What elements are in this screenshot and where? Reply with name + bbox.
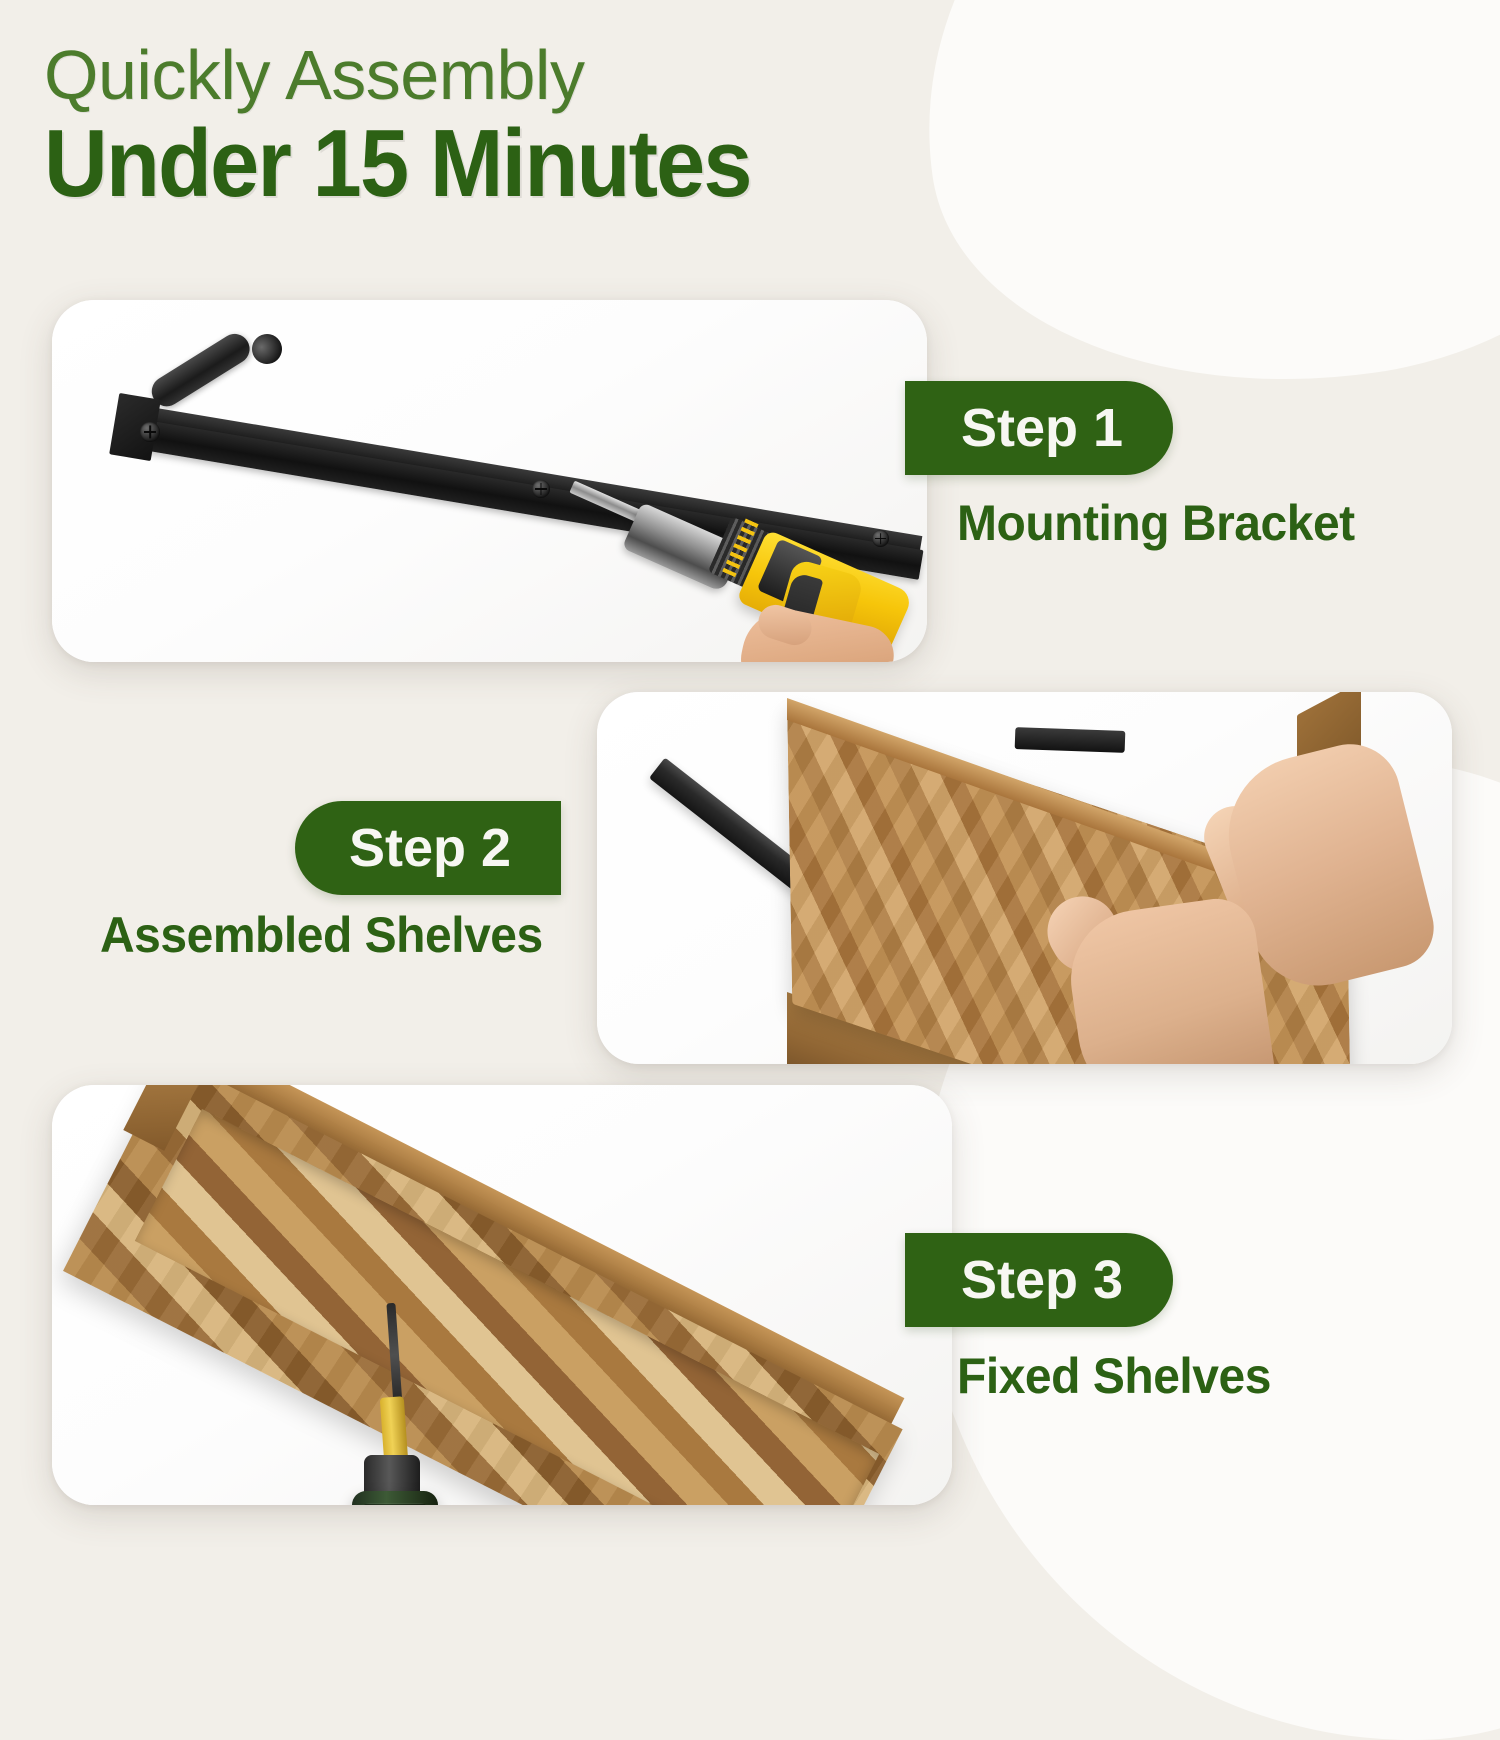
step-1-caption: Mounting Bracket <box>957 494 1355 552</box>
step-2-caption: Assembled Shelves <box>100 906 543 964</box>
screw-icon <box>532 480 550 498</box>
page-title-line-2: Under 15 Minutes <box>44 116 751 212</box>
background-blob-top-right-secondary <box>1000 0 1500 280</box>
step-2-photo <box>597 692 1452 1064</box>
step-1-photo <box>52 300 927 662</box>
screw-icon <box>140 422 160 442</box>
step-3-badge: Step 3 <box>905 1233 1173 1327</box>
page-title-line-1: Quickly Assembly <box>44 40 812 110</box>
background-blob-top-right <box>879 0 1500 430</box>
step-2-badge: Step 2 <box>295 801 561 895</box>
drill-chuck-knurling <box>360 1503 430 1505</box>
step-1-badge: Step 1 <box>905 381 1173 475</box>
step-2-photo-card <box>597 692 1452 1064</box>
bracket-upper-arm <box>1015 727 1126 753</box>
screw-icon <box>872 530 889 547</box>
page-title-block: Quickly Assembly Under 15 Minutes <box>44 40 812 212</box>
drill-bit-shaft <box>380 1396 409 1464</box>
step-1-photo-card <box>52 300 927 662</box>
step-3-photo-card <box>52 1085 952 1505</box>
step-3-photo <box>52 1085 952 1505</box>
step-3-caption: Fixed Shelves <box>957 1347 1271 1405</box>
